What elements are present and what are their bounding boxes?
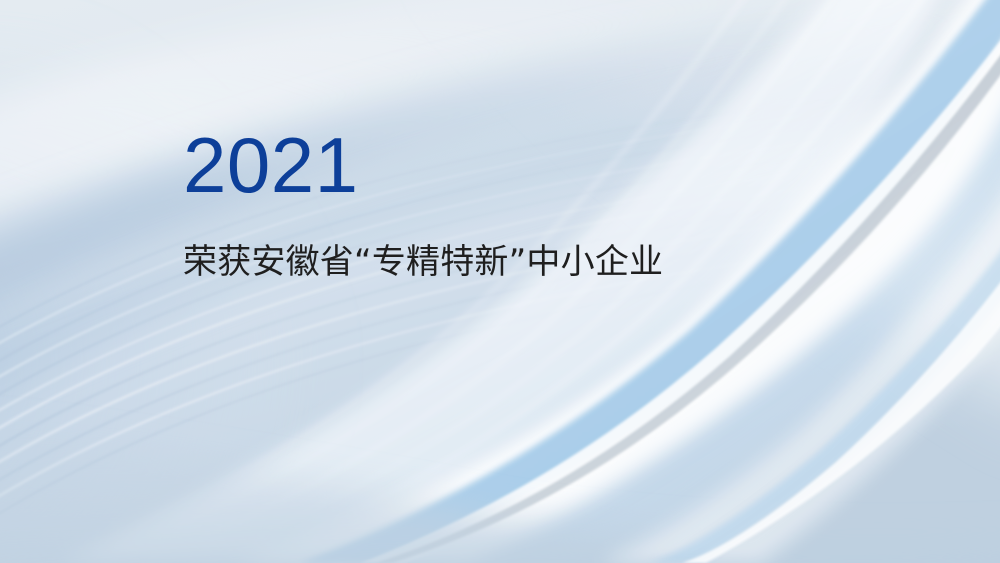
slide-text-block: 2021 荣获安徽省“专精特新”中小企业 <box>183 126 663 282</box>
award-subtitle: 荣获安徽省“专精特新”中小企业 <box>183 242 663 282</box>
year-heading: 2021 <box>183 126 663 204</box>
presentation-slide: 2021 荣获安徽省“专精特新”中小企业 <box>0 0 1000 563</box>
